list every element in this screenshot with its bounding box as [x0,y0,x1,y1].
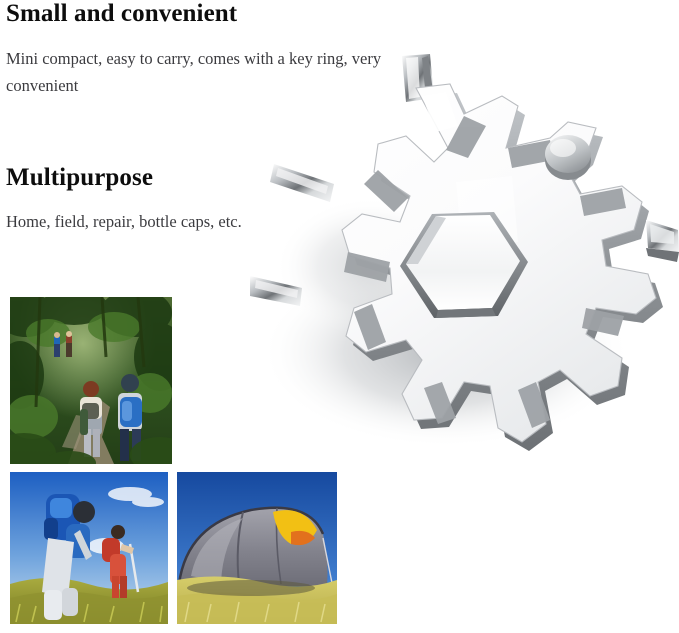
boss-rivet [545,135,591,180]
heading-small-and-convenient: Small and convenient [6,0,237,29]
heading-multipurpose: Multipurpose [6,163,153,193]
product-marketing-page: Small and convenient Mini compact, easy … [0,0,679,633]
snowflake-multitool-photo [250,52,679,456]
screwdriver-tip [646,220,679,262]
hikers-forest-photo [10,297,172,464]
hikers-hill-photo [10,472,168,624]
flat-driver-spur [270,164,334,202]
body-small-and-convenient: Mini compact, easy to carry, comes with … [6,45,384,99]
camping-tent-photo [177,472,337,624]
body-multipurpose: Home, field, repair, bottle caps, etc. [6,208,336,235]
